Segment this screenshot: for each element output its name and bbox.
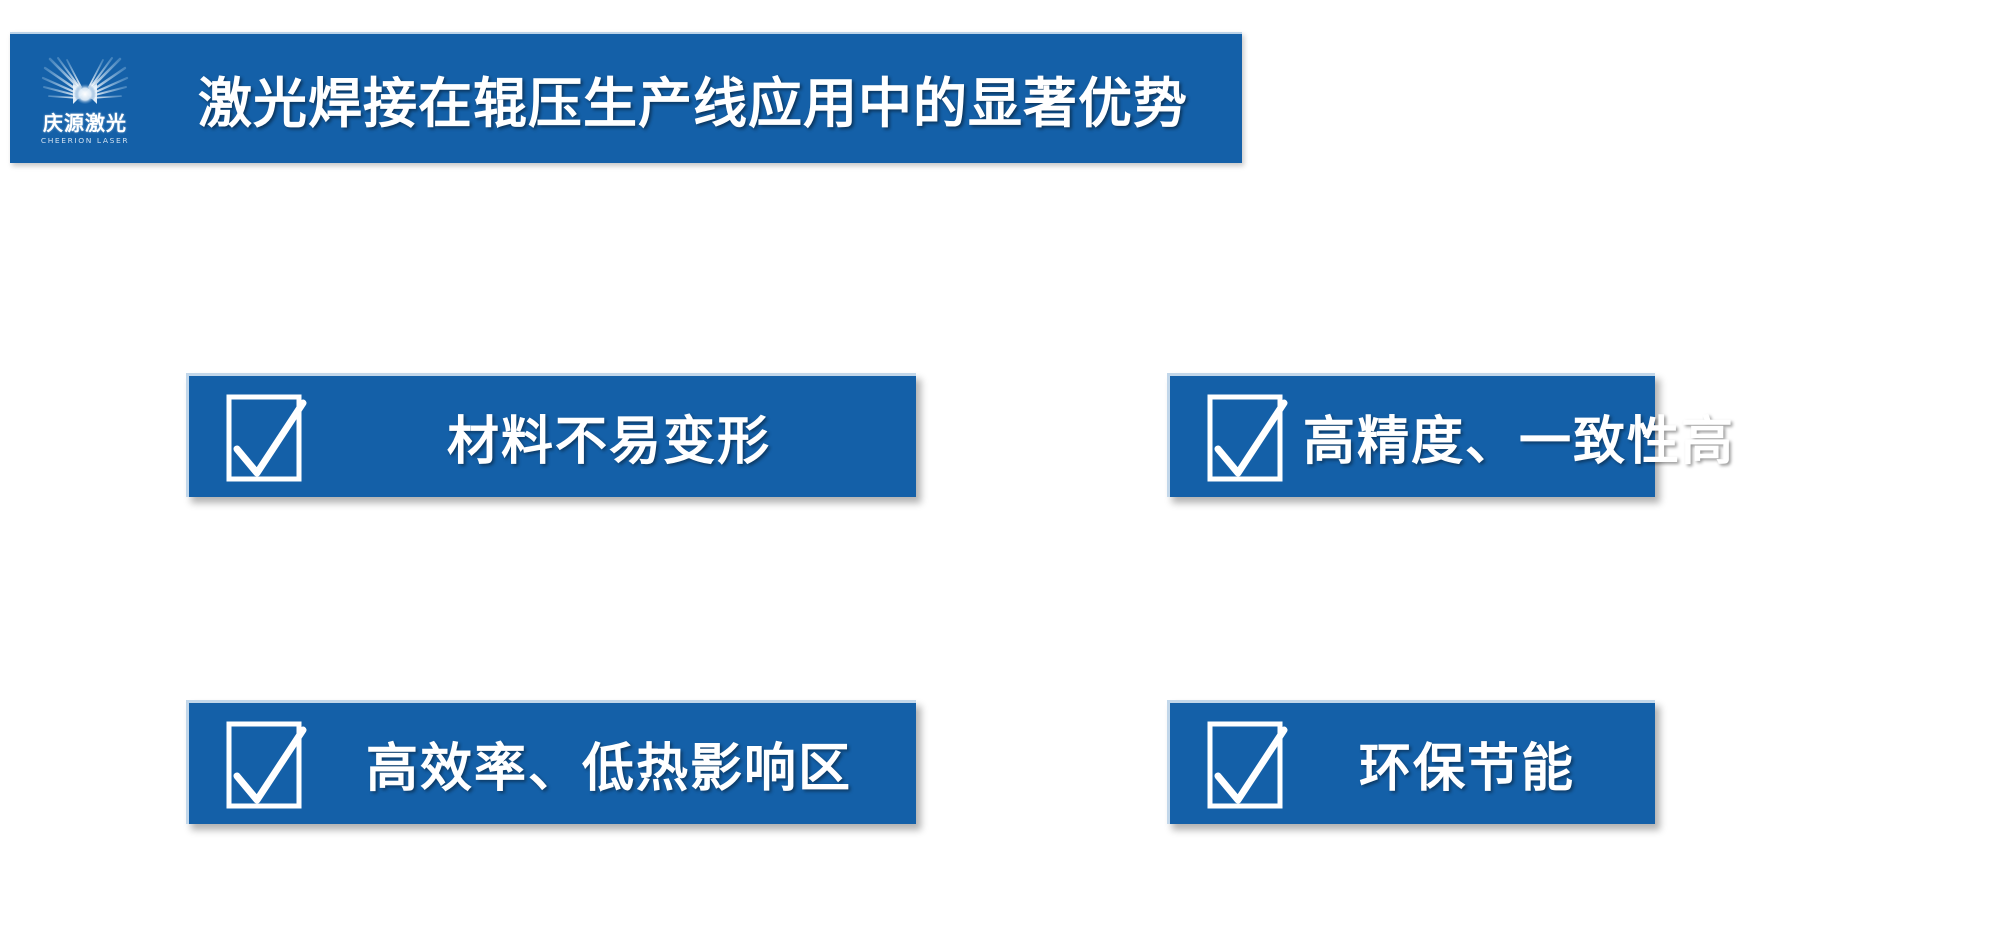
- company-logo: 庆源激光 CHEERION LASER: [10, 33, 160, 164]
- laser-wings-logo-icon: [37, 56, 133, 112]
- advantage-card-eco-energy-saving: 环保节能: [1167, 700, 1655, 824]
- slide-header-bar: 庆源激光 CHEERION LASER 激光焊接在辊压生产线应用中的显著优势: [10, 32, 1242, 163]
- advantage-card-efficiency-heat-zone: 高效率、低热影响区: [186, 700, 916, 824]
- advantage-card-label: 材料不易变形: [312, 399, 916, 474]
- advantage-card-material-deformation: 材料不易变形: [186, 373, 916, 497]
- advantage-card-label: 环保节能: [1293, 726, 1655, 801]
- checkbox-checked-icon: [224, 719, 312, 811]
- checkbox-checked-icon: [1205, 719, 1293, 811]
- checkbox-checked-icon: [224, 392, 312, 484]
- advantage-card-label: 高精度、一致性高: [1293, 399, 1759, 474]
- slide-canvas: 庆源激光 CHEERION LASER 激光焊接在辊压生产线应用中的显著优势 材…: [0, 0, 2000, 937]
- page-title: 激光焊接在辊压生产线应用中的显著优势: [198, 59, 1188, 138]
- logo-company-name-cn: 庆源激光: [43, 113, 127, 133]
- checkbox-checked-icon: [1205, 392, 1293, 484]
- advantage-card-label: 高效率、低热影响区: [312, 726, 916, 801]
- advantage-card-precision-consistency: 高精度、一致性高: [1167, 373, 1655, 497]
- logo-company-name-en: CHEERION LASER: [41, 138, 129, 145]
